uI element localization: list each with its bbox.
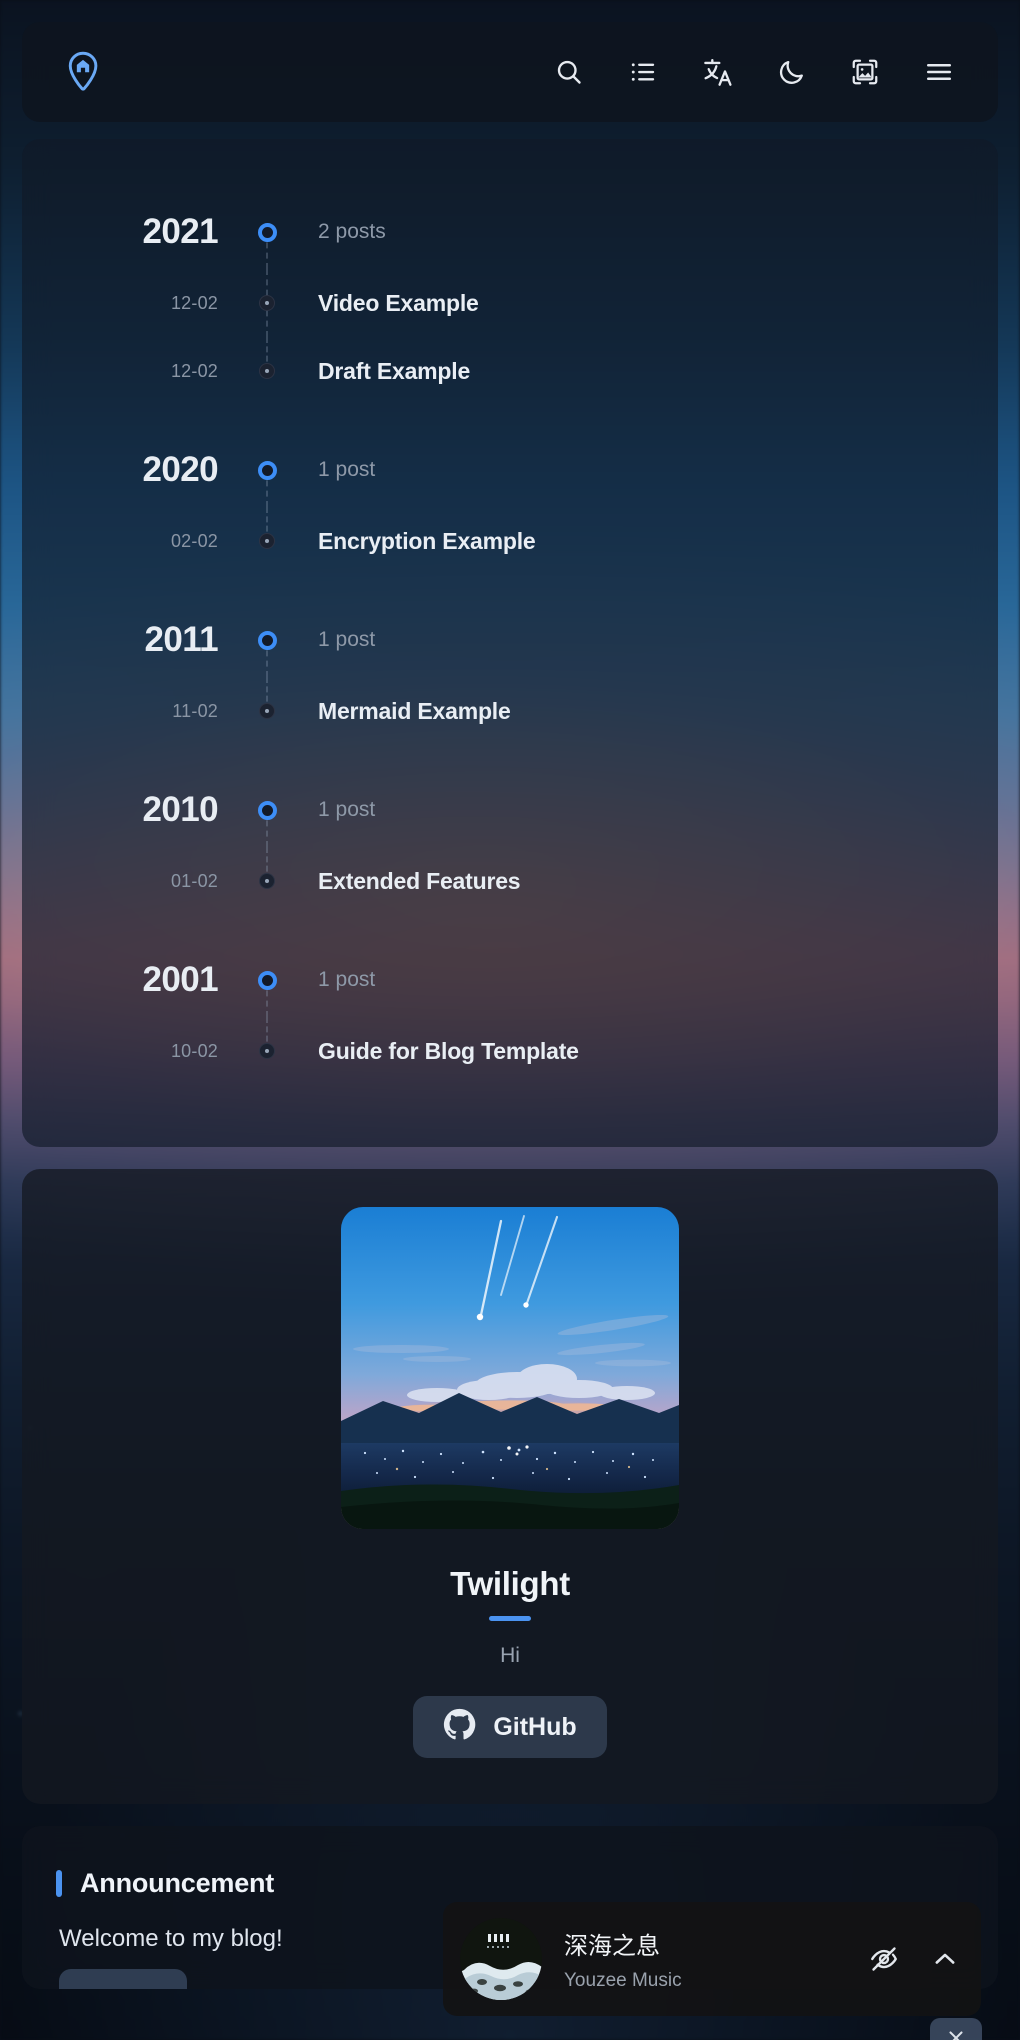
timeline-post-dot[interactable] (259, 533, 275, 549)
github-icon (443, 1708, 476, 1746)
timeline-year-dot-cell (244, 461, 290, 480)
timeline-post-row[interactable]: 11-02 Mermaid Example (22, 677, 998, 745)
timeline-post-date: 11-02 (22, 701, 244, 722)
track-title: 深海之息 (564, 1926, 869, 1961)
timeline-post-date: 10-02 (22, 1041, 244, 1062)
moon-icon[interactable] (774, 55, 808, 89)
timeline-year-label: 2011 (22, 620, 244, 660)
eye-off-icon[interactable] (869, 1944, 899, 1974)
track-artist: Youzee Music (564, 1970, 869, 1992)
profile-name-underline (489, 1616, 531, 1621)
timeline-post-dot[interactable] (259, 1043, 275, 1059)
image-icon[interactable] (848, 55, 882, 89)
timeline-post-count: 1 post (290, 458, 375, 482)
timeline-year-row[interactable]: 2020 1 post (22, 433, 998, 507)
timeline-year-dot[interactable] (258, 461, 277, 480)
timeline-post-dot-cell (244, 703, 290, 719)
twilight-landscape-avatar[interactable] (341, 1207, 679, 1529)
timeline-post-date: 12-02 (22, 293, 244, 314)
timeline-year-label: 2020 (22, 450, 244, 490)
timeline-post-title[interactable]: Extended Features (290, 868, 520, 895)
timeline-year-row[interactable]: 2001 1 post (22, 943, 998, 1017)
track-meta: 深海之息 Youzee Music (564, 1926, 869, 1992)
announcement-header: Announcement (22, 1868, 998, 1899)
list-icon[interactable] (626, 55, 660, 89)
music-player: 深海之息 Youzee Music (443, 1902, 981, 2016)
header-nav-icons (552, 55, 956, 89)
timeline-post-row[interactable]: 01-02 Extended Features (22, 847, 998, 915)
timeline-post-dot[interactable] (259, 873, 275, 889)
translate-icon[interactable] (700, 55, 734, 89)
timeline-post-count: 1 post (290, 798, 375, 822)
timeline-post-row[interactable]: 12-02 Video Example (22, 269, 998, 337)
announcement-title: Announcement (80, 1868, 274, 1899)
timeline-year-label: 2021 (22, 212, 244, 252)
timeline-post-row[interactable]: 02-02 Encryption Example (22, 507, 998, 575)
timeline-year-label: 2010 (22, 790, 244, 830)
github-button[interactable]: GitHub (413, 1696, 606, 1758)
site-header (22, 22, 998, 122)
timeline-year-row[interactable]: 2021 2 posts (22, 195, 998, 269)
archive-timeline: 2021 2 posts 12-02 Video Example 12-02 D… (22, 139, 998, 1147)
timeline-post-dot-cell (244, 533, 290, 549)
timeline-post-title[interactable]: Video Example (290, 290, 479, 317)
timeline-post-dot[interactable] (259, 363, 275, 379)
timeline-post-count: 1 post (290, 628, 375, 652)
timeline-post-dot-cell (244, 363, 290, 379)
timeline-post-title[interactable]: Draft Example (290, 358, 470, 385)
timeline-year-dot[interactable] (258, 801, 277, 820)
profile-card: Twilight Hi GitHub (22, 1169, 998, 1804)
player-controls (869, 1944, 959, 1974)
timeline-post-date: 01-02 (22, 871, 244, 892)
timeline-year-dot-cell (244, 223, 290, 242)
hamburger-icon[interactable] (922, 55, 956, 89)
timeline-post-title[interactable]: Guide for Blog Template (290, 1038, 579, 1065)
announcement-accent-bar (56, 1870, 62, 1897)
timeline-year-dot[interactable] (258, 223, 277, 242)
timeline-post-date: 12-02 (22, 361, 244, 382)
timeline-year-dot-cell (244, 801, 290, 820)
timeline-post-title[interactable]: Encryption Example (290, 528, 536, 555)
timeline-post-dot-cell (244, 1043, 290, 1059)
timeline-post-dot[interactable] (259, 295, 275, 311)
timeline-year-dot-cell (244, 971, 290, 990)
timeline-post-dot-cell (244, 295, 290, 311)
home-location-pin-icon[interactable] (66, 51, 100, 93)
profile-description: Hi (500, 1644, 520, 1668)
page-root: 2021 2 posts 12-02 Video Example 12-02 D… (0, 0, 1020, 2040)
timeline-post-date: 02-02 (22, 531, 244, 552)
chevron-up-icon[interactable] (931, 1945, 959, 1973)
timeline-year-row[interactable]: 2010 1 post (22, 773, 998, 847)
announcement-learn-more-button[interactable] (59, 1969, 187, 1989)
timeline-year-dot[interactable] (258, 971, 277, 990)
search-icon[interactable] (552, 55, 586, 89)
timeline-year-row[interactable]: 2011 1 post (22, 603, 998, 677)
timeline-post-row[interactable]: 12-02 Draft Example (22, 337, 998, 405)
timeline-post-row[interactable]: 10-02 Guide for Blog Template (22, 1017, 998, 1085)
timeline-post-count: 2 posts (290, 220, 386, 244)
timeline-post-count: 1 post (290, 968, 375, 992)
timeline-post-dot-cell (244, 873, 290, 889)
timeline-year-label: 2001 (22, 960, 244, 1000)
timeline-post-title[interactable]: Mermaid Example (290, 698, 511, 725)
album-art[interactable] (460, 1918, 542, 2000)
timeline-year-dot[interactable] (258, 631, 277, 650)
timeline-post-dot[interactable] (259, 703, 275, 719)
close-icon[interactable] (930, 2018, 982, 2040)
github-label: GitHub (493, 1713, 576, 1742)
profile-name: Twilight (450, 1565, 570, 1603)
timeline-year-dot-cell (244, 631, 290, 650)
